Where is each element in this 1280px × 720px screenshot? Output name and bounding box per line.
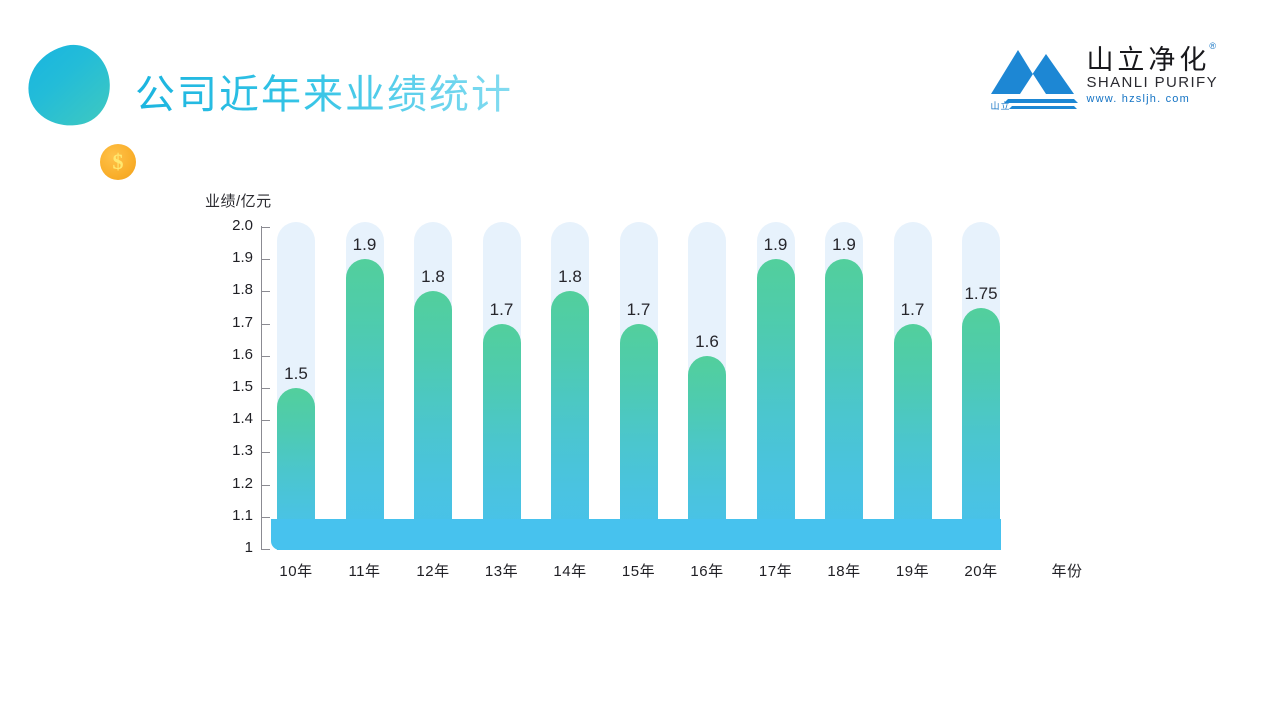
- x-tick-label: 20年: [946, 560, 1016, 581]
- bar-fill[interactable]: [894, 324, 932, 550]
- bar-fill[interactable]: [962, 308, 1000, 551]
- bar-value-label: 1.5: [266, 364, 326, 384]
- x-tick-label: 16年: [672, 560, 742, 581]
- y-tick-label: 1.6: [203, 346, 253, 363]
- bar-value-label: 1.6: [677, 332, 737, 352]
- x-tick-label: 11年: [330, 560, 400, 581]
- y-tick-label: 1.2: [203, 475, 253, 492]
- y-tick-mark: [261, 452, 270, 453]
- bar-value-label: 1.9: [746, 235, 806, 255]
- y-tick-label: 1.4: [203, 410, 253, 427]
- plot-area: 1.51.91.81.71.81.71.61.91.91.71.75: [271, 222, 1001, 550]
- x-tick-label: 14年: [535, 560, 605, 581]
- y-tick-mark: [261, 227, 270, 228]
- y-tick-mark: [261, 517, 270, 518]
- bar-value-label: 1.8: [403, 267, 463, 287]
- x-tick-label: 19年: [878, 560, 948, 581]
- x-tick-label: 12年: [398, 560, 468, 581]
- bar-fill[interactable]: [483, 324, 521, 550]
- bar-value-label: 1.8: [540, 267, 600, 287]
- bar-value-label: 1.7: [472, 300, 532, 320]
- chart-baseline-band: [271, 519, 1001, 550]
- bar-value-label: 1.75: [951, 284, 1011, 304]
- y-tick-label: 1.8: [203, 281, 253, 298]
- bar-fill[interactable]: [551, 291, 589, 550]
- y-tick-mark: [261, 388, 270, 389]
- bar-fill[interactable]: [346, 259, 384, 550]
- y-tick-mark: [261, 485, 270, 486]
- bar-fill[interactable]: [414, 291, 452, 550]
- y-tick-label: 1.1: [203, 507, 253, 524]
- bar-fill[interactable]: [620, 324, 658, 550]
- performance-bar-chart: 业绩/亿元 2.01.91.81.71.61.51.41.31.21.11 1.…: [0, 0, 1280, 720]
- y-tick-label: 1.7: [203, 314, 253, 331]
- x-tick-label: 18年: [809, 560, 879, 581]
- y-tick-label: 2.0: [203, 217, 253, 234]
- x-axis-title: 年份: [1032, 560, 1102, 581]
- y-tick-mark: [261, 324, 270, 325]
- x-tick-label: 17年: [741, 560, 811, 581]
- y-tick-mark: [261, 420, 270, 421]
- y-tick-label: 1: [203, 539, 253, 556]
- x-tick-label: 10年: [261, 560, 331, 581]
- y-tick-mark: [261, 291, 270, 292]
- y-tick-label: 1.3: [203, 442, 253, 459]
- bar-fill[interactable]: [825, 259, 863, 550]
- y-tick-mark: [261, 259, 270, 260]
- y-tick-label: 1.5: [203, 378, 253, 395]
- bar-value-label: 1.9: [335, 235, 395, 255]
- bar-value-label: 1.7: [883, 300, 943, 320]
- bar-value-label: 1.7: [609, 300, 669, 320]
- x-tick-label: 13年: [467, 560, 537, 581]
- y-tick-label: 1.9: [203, 249, 253, 266]
- bar-value-label: 1.9: [814, 235, 874, 255]
- y-axis-title: 业绩/亿元: [205, 190, 272, 211]
- bar-fill[interactable]: [757, 259, 795, 550]
- y-tick-mark: [261, 549, 270, 550]
- y-tick-mark: [261, 356, 270, 357]
- x-tick-label: 15年: [604, 560, 674, 581]
